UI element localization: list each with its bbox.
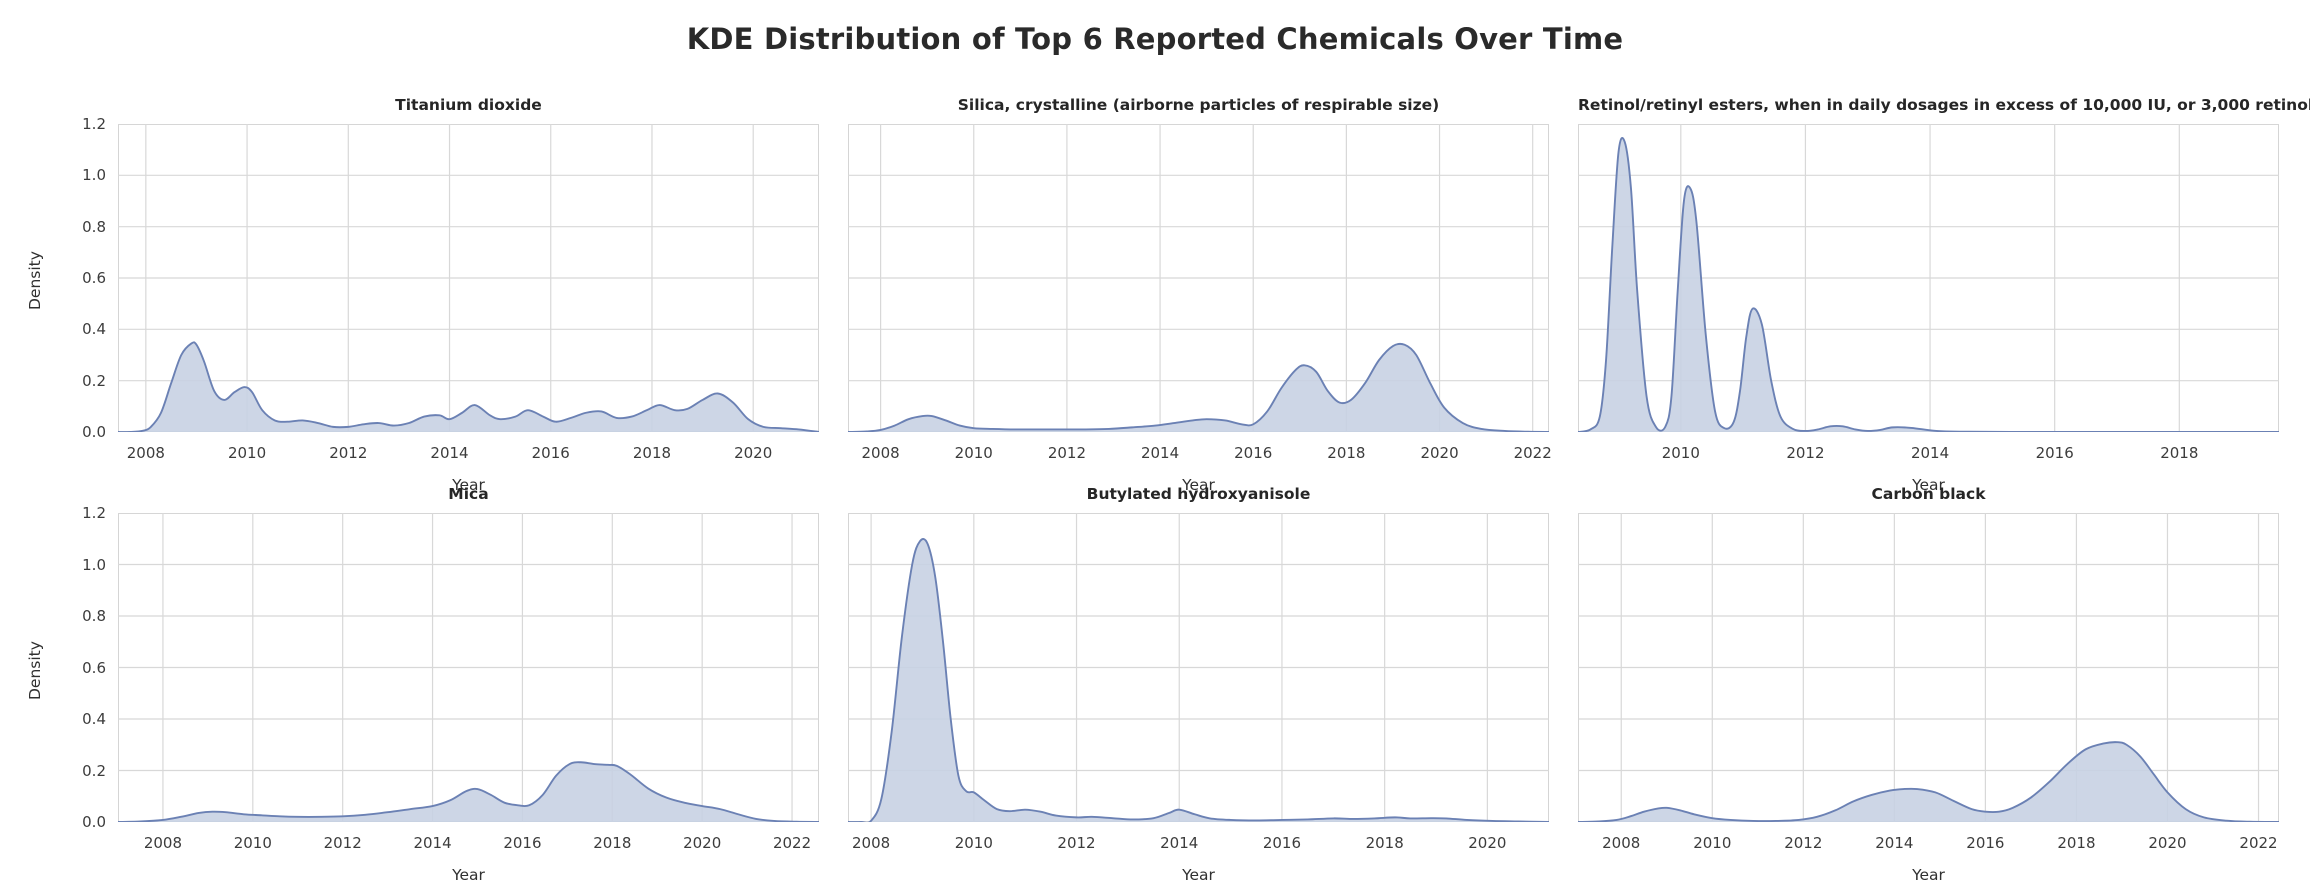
subplot-panel-2: Silica, crystalline (airborne particles …: [0, 0, 2310, 894]
x-tick-label: 2018: [633, 444, 671, 462]
x-tick-label: 2014: [1160, 834, 1198, 852]
plot-background-2: [848, 124, 1549, 432]
x-tick-label: 2020: [2148, 834, 2186, 852]
kde-fill-1: [118, 342, 819, 432]
y-tick-label: 1.2: [50, 115, 106, 133]
gridlines-6: [1578, 513, 2279, 822]
gridlines-1: [118, 124, 819, 432]
x-tick-label: 2012: [1057, 834, 1095, 852]
kde-plot-1: [118, 124, 819, 432]
kde-plot-4: [118, 513, 819, 822]
kde-line-2: [848, 344, 1549, 432]
x-tick-label: 2008: [144, 834, 182, 852]
kde-plot-5: [848, 513, 1549, 822]
x-tick-label: 2020: [734, 444, 772, 462]
kde-plot-6: [1578, 513, 2279, 822]
x-tick-label: 2012: [1786, 444, 1824, 462]
subplot-panel-1: Titanium dioxide0.00.20.40.60.81.01.2200…: [0, 0, 2310, 894]
x-axis-label-1: Year: [118, 476, 819, 494]
axes-area-5: [848, 513, 1549, 822]
gridlines-2: [848, 124, 1549, 432]
x-tick-label: 2010: [1693, 834, 1731, 852]
plot-background-1: [118, 124, 819, 432]
x-axis-label-5: Year: [848, 866, 1549, 884]
x-axis-label-3: Year: [1578, 476, 2279, 494]
y-tick-label: 0.2: [50, 372, 106, 390]
axes-area-6: [1578, 513, 2279, 822]
subplot-panel-5: Butylated hydroxyanisole2008201020122014…: [0, 0, 2310, 894]
x-tick-label: 2022: [773, 834, 811, 852]
kde-plot-3: [1578, 124, 2279, 432]
x-tick-label: 2014: [1911, 444, 1949, 462]
kde-fill-6: [1578, 742, 2279, 822]
figure-title: KDE Distribution of Top 6 Reported Chemi…: [0, 22, 2310, 56]
subplot-title-1: Titanium dioxide: [118, 96, 819, 114]
y-tick-label: 1.0: [50, 556, 106, 574]
x-tick-label: 2014: [1141, 444, 1179, 462]
kde-line-5: [848, 539, 1549, 822]
x-tick-label: 2010: [955, 834, 993, 852]
gridlines-5: [848, 513, 1549, 822]
x-tick-label: 2016: [2036, 444, 2074, 462]
y-tick-label: 0.6: [50, 659, 106, 677]
subplot-title-6: Carbon black: [1578, 485, 2279, 503]
y-tick-label: 0.0: [50, 423, 106, 441]
kde-figure: KDE Distribution of Top 6 Reported Chemi…: [0, 0, 2310, 894]
x-tick-label: 2012: [329, 444, 367, 462]
gridlines-3: [1578, 124, 2279, 432]
gridlines-4: [118, 513, 819, 822]
x-tick-label: 2020: [1420, 444, 1458, 462]
subplot-title-5: Butylated hydroxyanisole: [848, 485, 1549, 503]
kde-plot-2: [848, 124, 1549, 432]
kde-line-6: [1578, 742, 2279, 822]
x-axis-label-2: Year: [848, 476, 1549, 494]
subplot-title-4: Mica: [118, 485, 819, 503]
x-tick-label: 2016: [1263, 834, 1301, 852]
y-axis-label-1: Density: [26, 251, 44, 310]
x-tick-label: 2016: [532, 444, 570, 462]
kde-fill-5: [848, 539, 1549, 822]
axes-area-2: [848, 124, 1549, 432]
x-tick-label: 2014: [1875, 834, 1913, 852]
subplot-panel-3: Retinol/retinyl esters, when in daily do…: [0, 0, 2310, 894]
x-axis-label-4: Year: [118, 866, 819, 884]
x-tick-label: 2012: [324, 834, 362, 852]
x-tick-label: 2018: [593, 834, 631, 852]
subplot-panel-6: Carbon black2008201020122014201620182020…: [0, 0, 2310, 894]
x-tick-label: 2012: [1048, 444, 1086, 462]
x-axis-label-6: Year: [1578, 866, 2279, 884]
kde-fill-4: [118, 762, 819, 822]
subplot-title-2: Silica, crystalline (airborne particles …: [848, 96, 1549, 114]
kde-fill-2: [848, 344, 1549, 432]
plot-background-5: [848, 513, 1549, 822]
y-tick-label: 0.8: [50, 607, 106, 625]
x-tick-label: 2018: [2160, 444, 2198, 462]
x-tick-label: 2014: [413, 834, 451, 852]
axes-area-4: [118, 513, 819, 822]
axes-area-1: [118, 124, 819, 432]
x-tick-label: 2008: [1602, 834, 1640, 852]
kde-line-1: [118, 342, 819, 432]
y-tick-label: 0.0: [50, 813, 106, 831]
x-tick-label: 2020: [683, 834, 721, 852]
plot-background-3: [1578, 124, 2279, 432]
y-tick-label: 0.6: [50, 269, 106, 287]
plot-background-6: [1578, 513, 2279, 822]
y-tick-label: 0.2: [50, 762, 106, 780]
x-tick-label: 2016: [503, 834, 541, 852]
subplot-title-3: Retinol/retinyl esters, when in daily do…: [1578, 96, 2279, 114]
x-tick-label: 2008: [127, 444, 165, 462]
x-tick-label: 2022: [1514, 444, 1552, 462]
y-axis-label-4: Density: [26, 641, 44, 700]
x-tick-label: 2018: [1327, 444, 1365, 462]
x-tick-label: 2010: [1662, 444, 1700, 462]
x-tick-label: 2010: [234, 834, 272, 852]
subplot-panel-4: Mica0.00.20.40.60.81.01.2200820102012201…: [0, 0, 2310, 894]
kde-line-4: [118, 762, 819, 822]
y-tick-label: 0.4: [50, 320, 106, 338]
y-tick-label: 1.0: [50, 166, 106, 184]
x-tick-label: 2016: [1234, 444, 1272, 462]
x-tick-label: 2014: [430, 444, 468, 462]
y-tick-label: 0.8: [50, 218, 106, 236]
x-tick-label: 2008: [852, 834, 890, 852]
x-tick-label: 2018: [2057, 834, 2095, 852]
x-tick-label: 2020: [1468, 834, 1506, 852]
x-tick-label: 2010: [955, 444, 993, 462]
kde-line-3: [1578, 138, 2279, 432]
plot-background-4: [118, 513, 819, 822]
kde-fill-3: [1578, 138, 2279, 432]
x-tick-label: 2012: [1784, 834, 1822, 852]
x-tick-label: 2022: [2239, 834, 2277, 852]
x-tick-label: 2008: [862, 444, 900, 462]
x-tick-label: 2010: [228, 444, 266, 462]
x-tick-label: 2018: [1366, 834, 1404, 852]
y-tick-label: 0.4: [50, 710, 106, 728]
axes-area-3: [1578, 124, 2279, 432]
x-tick-label: 2016: [1966, 834, 2004, 852]
y-tick-label: 1.2: [50, 504, 106, 522]
